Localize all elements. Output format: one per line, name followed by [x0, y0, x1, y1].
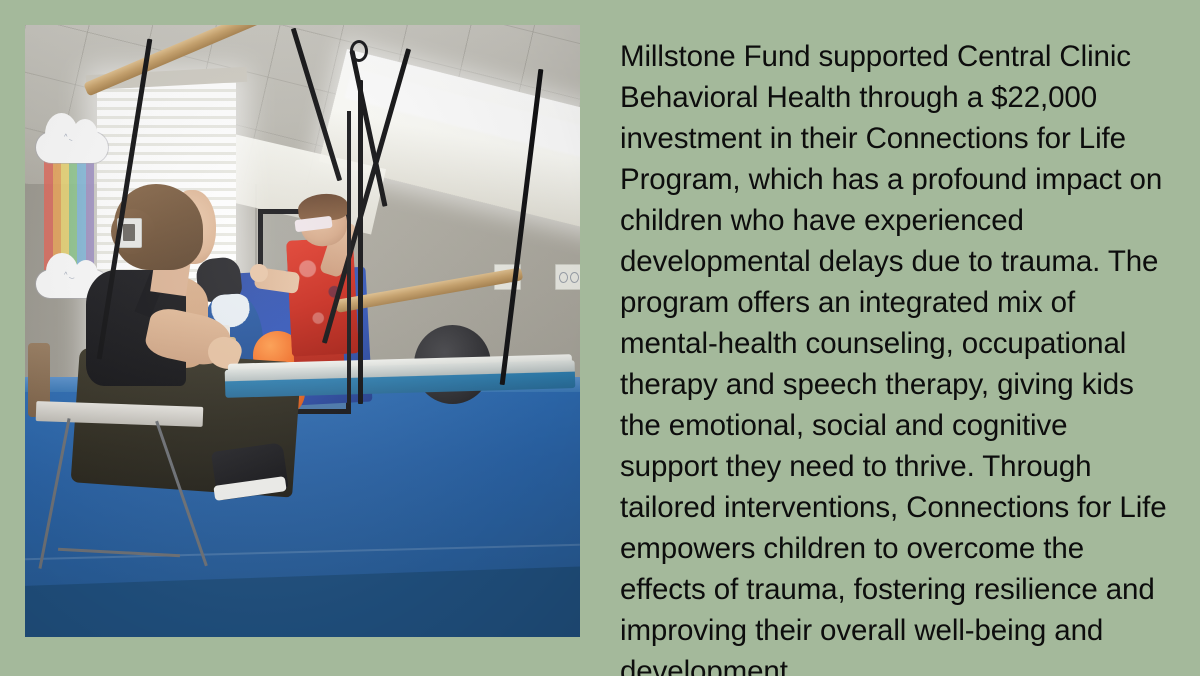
swing-strap-vertical [358, 80, 363, 404]
ceiling-hook-icon [350, 40, 368, 62]
body-paragraph: Millstone Fund supported Central Clinic … [620, 36, 1172, 676]
cloud-face-icon: ^ ‿ ^ [36, 132, 108, 163]
therapy-session-photo: ^ ‿ ^ ^ ‿ ^ [25, 25, 580, 637]
slide-canvas: ^ ‿ ^ ^ ‿ ^ [0, 0, 1200, 676]
electrical-outlet [555, 264, 580, 290]
child-hand [250, 264, 268, 282]
photo-scene: ^ ‿ ^ ^ ‿ ^ [25, 25, 580, 637]
swing-rope [347, 111, 351, 405]
cloud-decal-top: ^ ‿ ^ [36, 132, 108, 163]
rainbow-wall-decal [44, 154, 94, 270]
